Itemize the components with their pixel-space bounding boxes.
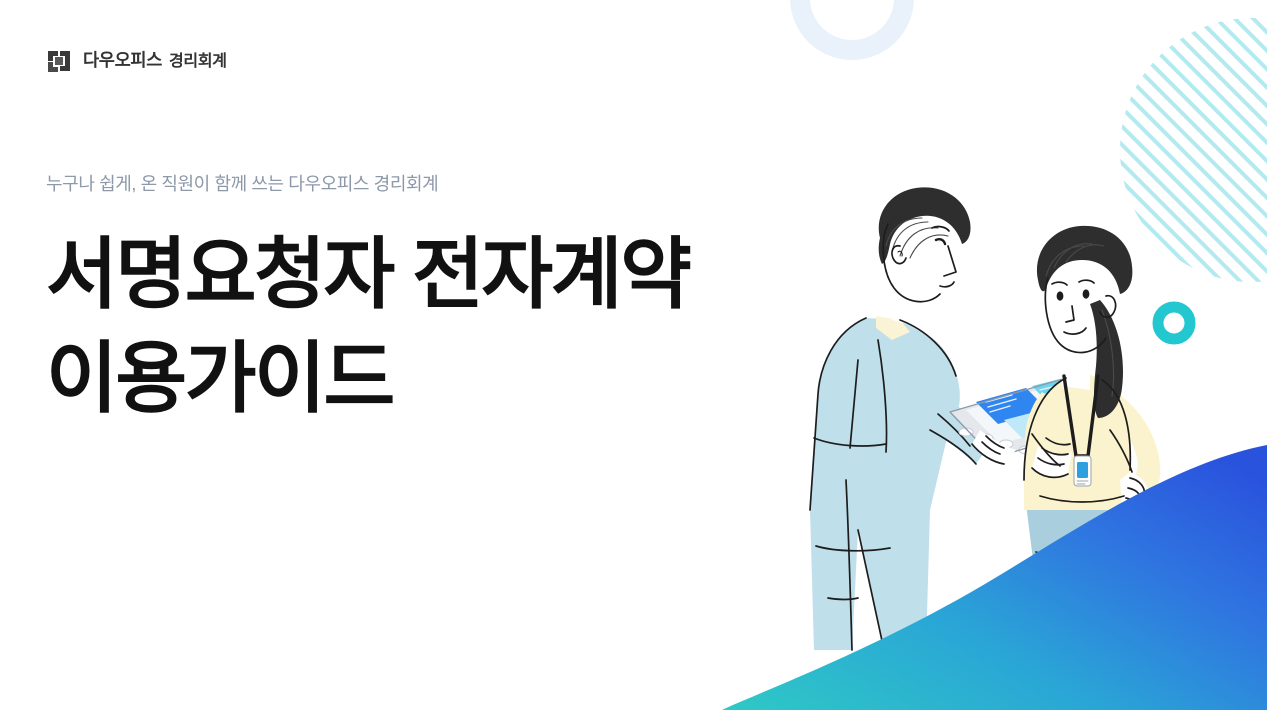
light-blue-ring-icon bbox=[800, 0, 904, 50]
page-title-line-1: 서명요청자 전자계약 bbox=[46, 223, 690, 327]
hero-section: 누구나 쉽게, 온 직원이 함께 쓰는 다우오피스 경리회계 서명요청자 전자계… bbox=[46, 172, 690, 431]
guide-cover-slide: 다우오피스경리회계 누구나 쉽게, 온 직원이 함께 쓰는 다우오피스 경리회계… bbox=[0, 0, 1267, 710]
brand-text-wrapper: 다우오피스경리회계 bbox=[83, 52, 227, 70]
hero-eyebrow: 누구나 쉽게, 온 직원이 함께 쓰는 다우오피스 경리회계 bbox=[46, 172, 690, 197]
brand-logo: 다우오피스경리회계 bbox=[46, 48, 227, 74]
brand-product: 경리회계 bbox=[162, 53, 227, 70]
page-title: 서명요청자 전자계약 이용가이드 bbox=[46, 223, 690, 430]
daouoffice-pinwheel-logo-icon bbox=[46, 48, 72, 74]
brand-name: 다우오피스 bbox=[83, 50, 162, 70]
bottom-gradient-wave bbox=[0, 410, 1267, 710]
page-title-line-2: 이용가이드 bbox=[46, 327, 690, 431]
